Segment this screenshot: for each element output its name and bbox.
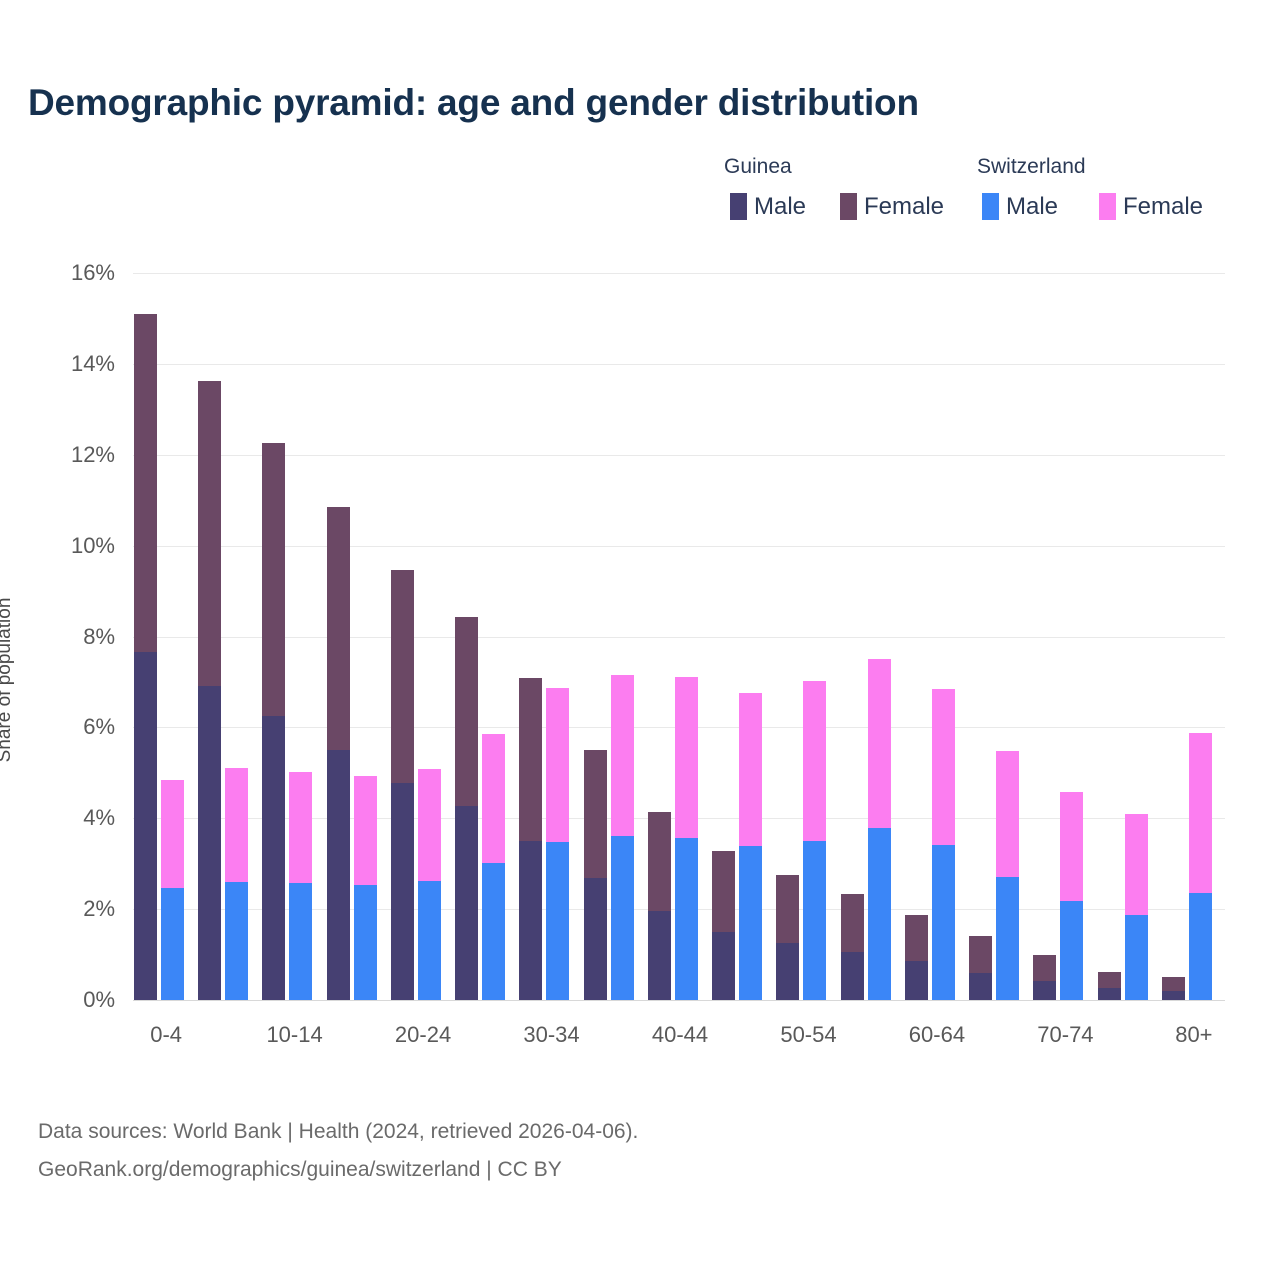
- bar-segment-guinea-female[interactable]: [712, 851, 735, 932]
- stacked-bar[interactable]: [262, 443, 285, 1000]
- stacked-bar[interactable]: [1189, 733, 1212, 1000]
- bar-segment-guinea-female[interactable]: [1033, 955, 1056, 981]
- bar-segment-switzerland-female[interactable]: [482, 734, 505, 863]
- bar-segment-switzerland-male[interactable]: [225, 882, 248, 1000]
- y-axis-tick-label: 16%: [71, 260, 115, 286]
- bar-segment-guinea-male[interactable]: [391, 783, 414, 1000]
- bar-segment-guinea-female[interactable]: [519, 678, 542, 841]
- bar-segment-switzerland-female[interactable]: [932, 689, 955, 844]
- y-axis-tick-label: 4%: [83, 805, 115, 831]
- stacked-bar[interactable]: [905, 915, 928, 1000]
- stacked-bar[interactable]: [675, 677, 698, 1000]
- plot-canvas: [133, 273, 1225, 1000]
- bar-group: [391, 273, 455, 1000]
- stacked-bar[interactable]: [969, 936, 992, 1000]
- bar-segment-guinea-female[interactable]: [1098, 972, 1121, 988]
- x-axis-ticks: 0-410-1420-2430-3440-4450-5460-6470-7480…: [133, 1022, 1225, 1062]
- stacked-bar[interactable]: [546, 688, 569, 1000]
- stacked-bar[interactable]: [1098, 972, 1121, 1000]
- stacked-bar[interactable]: [482, 734, 505, 1000]
- bar-segment-guinea-male[interactable]: [455, 806, 478, 1000]
- y-axis-tick-label: 6%: [83, 714, 115, 740]
- bar-segment-switzerland-female[interactable]: [803, 681, 826, 840]
- bar-segment-switzerland-male[interactable]: [354, 885, 377, 1000]
- bar-group: [1162, 273, 1226, 1000]
- bar-segment-guinea-male[interactable]: [776, 943, 799, 1000]
- stacked-bar[interactable]: [648, 812, 671, 1000]
- bar-group: [712, 273, 776, 1000]
- footer-attribution: GeoRank.org/demographics/guinea/switzerl…: [38, 1151, 638, 1189]
- chart-area: Share of population 0%2%4%6%8%10%12%14%1…: [0, 0, 1280, 1280]
- x-axis-tick-label: 50-54: [780, 1022, 836, 1048]
- stacked-bar[interactable]: [327, 507, 350, 1000]
- bar-segment-switzerland-male[interactable]: [739, 846, 762, 1000]
- bar-segment-switzerland-female[interactable]: [868, 659, 891, 828]
- x-axis-line: [133, 1000, 1225, 1001]
- bar-segment-guinea-male[interactable]: [198, 686, 221, 1000]
- bar-segment-guinea-male[interactable]: [519, 841, 542, 1000]
- stacked-bar[interactable]: [391, 570, 414, 1000]
- bar-segment-switzerland-female[interactable]: [225, 768, 248, 882]
- bar-segment-switzerland-male[interactable]: [482, 863, 505, 1000]
- bar-segment-guinea-male[interactable]: [1033, 981, 1056, 1000]
- x-axis-tick-label: 0-4: [150, 1022, 182, 1048]
- y-axis-tick-label: 2%: [83, 896, 115, 922]
- stacked-bar[interactable]: [519, 678, 542, 1000]
- bar-segment-switzerland-male[interactable]: [932, 845, 955, 1000]
- stacked-bar[interactable]: [1162, 977, 1185, 1000]
- bar-segment-switzerland-female[interactable]: [996, 751, 1019, 877]
- stacked-bar[interactable]: [584, 750, 607, 1000]
- bar-segment-guinea-female[interactable]: [391, 570, 414, 783]
- bar-segment-switzerland-male[interactable]: [675, 838, 698, 1000]
- stacked-bar[interactable]: [712, 851, 735, 1000]
- bar-segment-guinea-female[interactable]: [327, 507, 350, 751]
- y-axis-tick-label: 14%: [71, 351, 115, 377]
- stacked-bar[interactable]: [1125, 814, 1148, 1000]
- bar-segment-switzerland-female[interactable]: [289, 772, 312, 883]
- bar-segment-switzerland-male[interactable]: [868, 828, 891, 1000]
- y-axis-tick-label: 0%: [83, 987, 115, 1013]
- bar-segment-switzerland-male[interactable]: [611, 836, 634, 1000]
- stacked-bar[interactable]: [841, 894, 864, 1000]
- bar-segment-switzerland-male[interactable]: [1189, 893, 1212, 1000]
- bar-segment-switzerland-male[interactable]: [546, 842, 569, 1000]
- bar-group: [1033, 273, 1097, 1000]
- bar-segment-guinea-male[interactable]: [841, 952, 864, 1000]
- bar-segment-guinea-male[interactable]: [262, 716, 285, 1000]
- stacked-bar[interactable]: [418, 769, 441, 1000]
- bar-segment-switzerland-male[interactable]: [996, 877, 1019, 1000]
- bar-segment-guinea-male[interactable]: [134, 652, 157, 1000]
- stacked-bar[interactable]: [225, 768, 248, 1000]
- x-axis-tick-label: 70-74: [1037, 1022, 1093, 1048]
- bar-segment-guinea-male[interactable]: [1162, 991, 1185, 1000]
- x-axis-tick-label: 40-44: [652, 1022, 708, 1048]
- bar-segment-guinea-female[interactable]: [455, 617, 478, 807]
- bar-segment-guinea-male[interactable]: [969, 973, 992, 1000]
- bar-segment-switzerland-female[interactable]: [161, 780, 184, 888]
- bar-segment-switzerland-male[interactable]: [803, 841, 826, 1000]
- bar-segment-switzerland-male[interactable]: [1125, 915, 1148, 1000]
- bar-segment-guinea-male[interactable]: [905, 961, 928, 1000]
- stacked-bar[interactable]: [776, 875, 799, 1000]
- y-axis-tick-label: 12%: [71, 442, 115, 468]
- stacked-bar[interactable]: [161, 780, 184, 1000]
- x-axis-tick-label: 60-64: [909, 1022, 965, 1048]
- bar-segment-guinea-female[interactable]: [134, 314, 157, 652]
- bar-segment-guinea-female[interactable]: [262, 443, 285, 717]
- bar-segment-switzerland-female[interactable]: [739, 693, 762, 846]
- stacked-bar[interactable]: [868, 659, 891, 1000]
- x-axis-tick-label: 30-34: [523, 1022, 579, 1048]
- stacked-bar[interactable]: [1033, 955, 1056, 1000]
- bar-segment-guinea-female[interactable]: [198, 381, 221, 685]
- bar-group: [1098, 273, 1162, 1000]
- bar-segment-switzerland-male[interactable]: [1060, 901, 1083, 1000]
- bar-segment-guinea-male[interactable]: [712, 932, 735, 1000]
- bar-segment-switzerland-female[interactable]: [1060, 792, 1083, 902]
- bar-segment-switzerland-female[interactable]: [546, 688, 569, 842]
- bar-segment-guinea-male[interactable]: [327, 750, 350, 1000]
- bar-segment-switzerland-female[interactable]: [354, 776, 377, 885]
- bar-segment-switzerland-male[interactable]: [289, 883, 312, 1000]
- bar-segment-switzerland-female[interactable]: [1189, 733, 1212, 893]
- bar-segment-guinea-female[interactable]: [841, 894, 864, 952]
- stacked-bar[interactable]: [739, 693, 762, 1000]
- stacked-bar[interactable]: [134, 314, 157, 1000]
- bar-group: [841, 273, 905, 1000]
- bar-group: [519, 273, 583, 1000]
- chart-footer: Data sources: World Bank | Health (2024,…: [38, 1113, 638, 1189]
- bar-segment-guinea-male[interactable]: [584, 878, 607, 1000]
- stacked-bar[interactable]: [611, 675, 634, 1000]
- bar-segment-switzerland-male[interactable]: [418, 881, 441, 1000]
- bar-segment-guinea-female[interactable]: [776, 875, 799, 943]
- stacked-bar[interactable]: [1060, 792, 1083, 1000]
- stacked-bar[interactable]: [289, 772, 312, 1000]
- bar-segment-switzerland-female[interactable]: [1125, 814, 1148, 915]
- stacked-bar[interactable]: [932, 689, 955, 1000]
- bar-segment-guinea-female[interactable]: [1162, 977, 1185, 991]
- bar-group: [198, 273, 262, 1000]
- y-axis-ticks: 0%2%4%6%8%10%12%14%16%: [0, 273, 133, 1000]
- bar-group: [969, 273, 1033, 1000]
- bar-group: [262, 273, 326, 1000]
- bar-segment-guinea-male[interactable]: [648, 911, 671, 1000]
- bar-group: [455, 273, 519, 1000]
- y-axis-tick-label: 8%: [83, 624, 115, 650]
- bar-segment-switzerland-male[interactable]: [161, 888, 184, 1000]
- stacked-bar[interactable]: [803, 681, 826, 1000]
- bar-group: [648, 273, 712, 1000]
- bar-segment-switzerland-female[interactable]: [418, 769, 441, 882]
- bar-segment-guinea-female[interactable]: [969, 936, 992, 972]
- bar-segment-guinea-female[interactable]: [905, 915, 928, 961]
- bar-segment-guinea-female[interactable]: [584, 750, 607, 879]
- bar-group: [584, 273, 648, 1000]
- footer-data-sources: Data sources: World Bank | Health (2024,…: [38, 1113, 638, 1151]
- bar-segment-guinea-female[interactable]: [648, 812, 671, 911]
- stacked-bar[interactable]: [198, 381, 221, 1000]
- x-axis-tick-label: 10-14: [266, 1022, 322, 1048]
- bar-segment-switzerland-female[interactable]: [611, 675, 634, 837]
- bar-segment-guinea-male[interactable]: [1098, 988, 1121, 1000]
- y-axis-tick-label: 10%: [71, 533, 115, 559]
- x-axis-tick-label: 20-24: [395, 1022, 451, 1048]
- x-axis-tick-label: 80+: [1175, 1022, 1212, 1048]
- stacked-bar[interactable]: [354, 776, 377, 1000]
- bar-segment-switzerland-female[interactable]: [675, 677, 698, 837]
- bar-group: [905, 273, 969, 1000]
- bar-group: [327, 273, 391, 1000]
- bar-group: [134, 273, 198, 1000]
- bar-group: [776, 273, 840, 1000]
- stacked-bar[interactable]: [996, 751, 1019, 1000]
- stacked-bar[interactable]: [455, 617, 478, 1000]
